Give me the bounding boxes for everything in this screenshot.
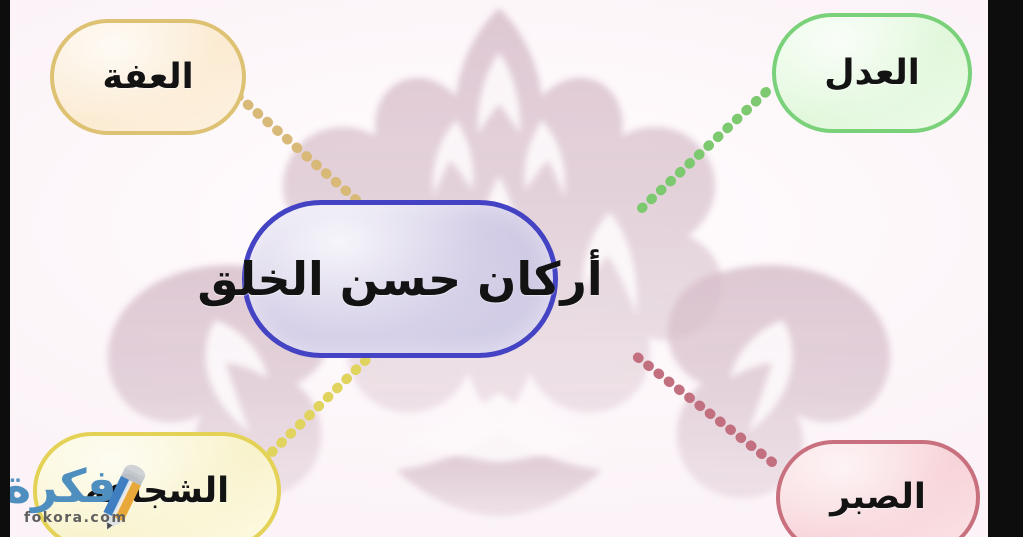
- branch-node-patience-label: الصبر: [830, 480, 926, 515]
- branch-node-justice-label: العدل: [824, 56, 919, 91]
- branch-node-courage-label: الشجاعة: [85, 474, 229, 509]
- diagram-canvas: أركان حسن الخلق العفة العدل الشجاعة الصب…: [10, 0, 988, 537]
- connector-justice: [642, 92, 766, 208]
- branch-node-chastity-label: العفة: [102, 60, 193, 95]
- center-node-label: أركان حسن الخلق: [197, 256, 602, 302]
- connector-chastity: [238, 96, 370, 212]
- connector-courage: [272, 356, 370, 452]
- branch-node-chastity[interactable]: العفة: [50, 19, 246, 135]
- diagram-stage: أركان حسن الخلق العفة العدل الشجاعة الصب…: [0, 0, 1023, 537]
- branch-node-courage[interactable]: الشجاعة: [33, 432, 281, 537]
- branch-node-patience[interactable]: الصبر: [776, 440, 980, 537]
- letterbox-left: [0, 0, 10, 537]
- letterbox-right: [988, 0, 1023, 537]
- center-node[interactable]: أركان حسن الخلق: [242, 200, 558, 358]
- branch-node-justice[interactable]: العدل: [772, 13, 972, 133]
- connector-patience: [636, 356, 772, 462]
